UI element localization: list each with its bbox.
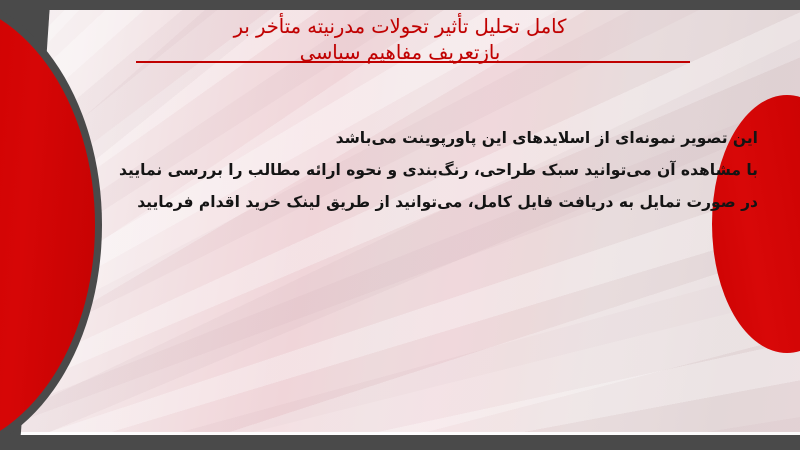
slide-body-text: این تصویر نمونه‌ای از اسلایدهای این پاور…	[42, 122, 758, 218]
slide-body-line-1: این تصویر نمونه‌ای از اسلایدهای این پاور…	[42, 122, 758, 154]
slide-title-line-1: کامل تحلیل تأثیر تحولات مدرنیته متأخر بر	[0, 14, 800, 40]
slide-title: کامل تحلیل تأثیر تحولات مدرنیته متأخر بر…	[0, 14, 800, 66]
bottom-dark-band	[0, 435, 800, 450]
top-dark-band	[0, 0, 800, 10]
slide-body-line-3: در صورت تمایل به دریافت فایل کامل، می‌تو…	[42, 186, 758, 218]
slide-title-underline	[136, 61, 690, 63]
presentation-slide: کامل تحلیل تأثیر تحولات مدرنیته متأخر بر…	[0, 0, 800, 450]
slide-content-panel	[0, 10, 800, 435]
slide-background-gradient	[0, 10, 800, 435]
slide-body-line-2: با مشاهده آن می‌توانید سبک طراحی، رنگ‌بن…	[42, 154, 758, 186]
